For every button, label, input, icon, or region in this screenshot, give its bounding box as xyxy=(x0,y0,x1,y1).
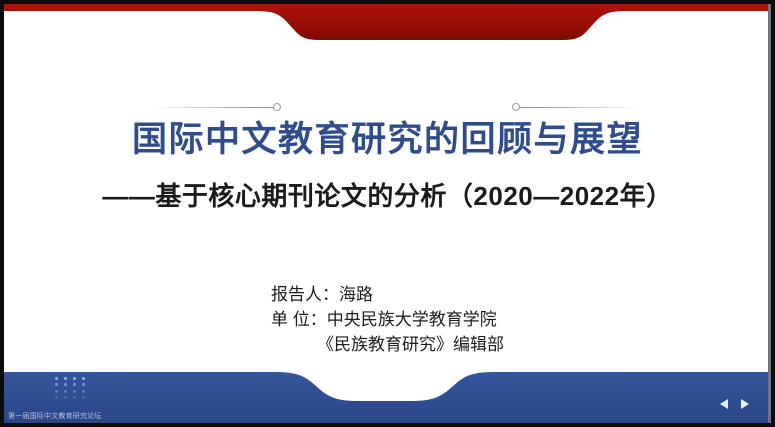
presentation-slide: 国际中文教育研究的回顾与展望 ——基于核心期刊论文的分析（2020—2022年）… xyxy=(4,4,771,423)
presenter-info-block: 报告人：海路 单 位：中央民族大学教育学院 《民族教育研究》编辑部 xyxy=(4,282,771,357)
bottom-blue-banner xyxy=(4,361,771,423)
slide-sub-title: ——基于核心期刊论文的分析（2020—2022年） xyxy=(4,178,771,214)
dot-grid-decoration xyxy=(52,375,88,401)
video-player-frame: 国际中文教育研究的回顾与展望 ——基于核心期刊论文的分析（2020—2022年）… xyxy=(0,0,775,427)
slide-main-title: 国际中文教育研究的回顾与展望 xyxy=(4,116,771,164)
next-slide-icon[interactable] xyxy=(741,399,749,409)
decorative-rule-left xyxy=(152,101,281,113)
top-red-banner xyxy=(4,4,771,44)
footer-caption: 第一届国际中文教育研究论坛 xyxy=(8,412,102,421)
rule-line xyxy=(152,107,274,108)
title-block: 国际中文教育研究的回顾与展望 ——基于核心期刊论文的分析（2020—2022年） xyxy=(4,116,771,214)
presenter-affiliation: 单 位：中央民族大学教育学院 xyxy=(271,307,504,332)
rule-line xyxy=(519,107,641,108)
slide-navigation-controls xyxy=(720,399,749,409)
frame-right-edge xyxy=(768,4,771,423)
decorative-rule-right xyxy=(512,101,641,113)
decorative-rules xyxy=(4,96,771,112)
presenter-speaker: 报告人：海路 xyxy=(271,282,504,307)
previous-slide-icon[interactable] xyxy=(720,399,728,409)
presenter-department: 《民族教育研究》编辑部 xyxy=(271,332,504,357)
rule-circle-icon xyxy=(273,103,281,111)
